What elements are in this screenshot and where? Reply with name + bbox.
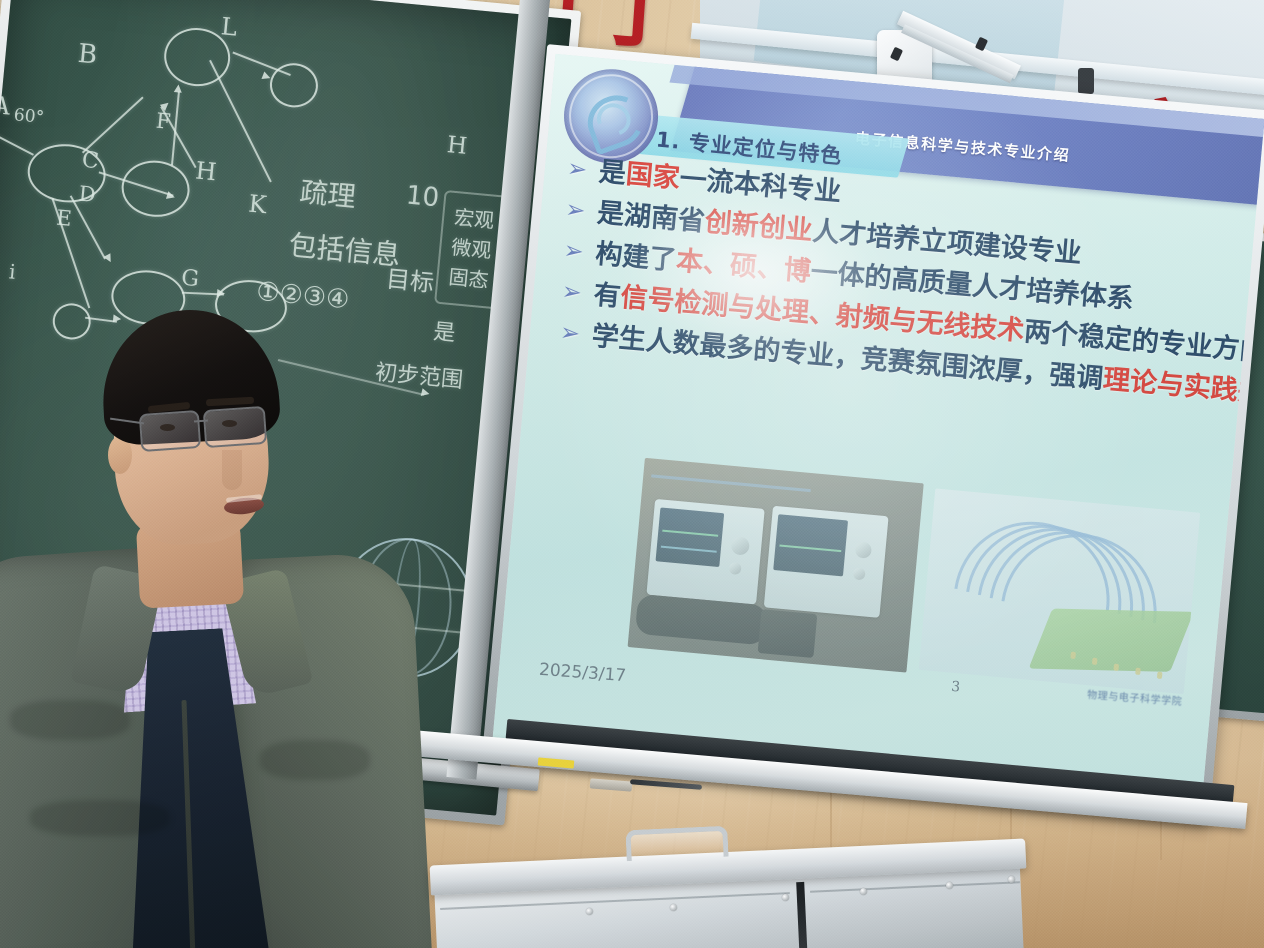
presentation-slide: 电子信息科学与技术专业介绍 1. 专业定位与特色 ➢ 是国家一流本科专业 — [491, 54, 1264, 816]
scope-display — [656, 507, 725, 567]
scope-display — [773, 514, 848, 576]
lectern-handle-icon[interactable] — [625, 826, 728, 862]
chalk-label-E: E — [55, 206, 73, 231]
chalk-note-shuli: 疏理 — [298, 170, 358, 215]
chalk-note-goal: 目标 — [385, 259, 436, 298]
chalk-label-F: F — [155, 109, 172, 134]
scope-trace — [662, 530, 718, 537]
scope-trace — [661, 546, 717, 553]
projection-screen-frame: 电子信息科学与技术专业介绍 1. 专业定位与特色 ➢ 是国家一流本科专业 — [482, 44, 1264, 826]
antenna-substrate — [1029, 609, 1194, 672]
lectern-screw — [670, 904, 677, 911]
chalk-label-K: K — [247, 190, 267, 220]
lectern-screw — [860, 888, 867, 895]
lectern-screw — [946, 882, 953, 889]
antenna-element — [1113, 664, 1119, 671]
chalk-label-B: B — [77, 39, 99, 71]
jacket-fold — [10, 700, 130, 740]
lectern-screw — [1008, 876, 1015, 883]
eye-right — [222, 420, 237, 427]
bullet-marker-icon: ➢ — [563, 238, 585, 264]
slide-date: 2025/3/17 — [538, 660, 626, 686]
scope-knob — [853, 567, 866, 580]
bullet-marker-icon: ➢ — [559, 320, 581, 346]
bullet-marker-icon: ➢ — [566, 156, 588, 182]
chalk-label-C: C — [81, 148, 100, 174]
chalk-note-ten: 10 — [405, 180, 441, 213]
jacket-fold — [30, 800, 170, 836]
chalk-arrowhead — [174, 84, 183, 93]
scope-knob — [855, 541, 872, 558]
oscilloscope-left — [646, 499, 764, 605]
antenna-element — [1157, 672, 1163, 679]
lectern-screw — [586, 908, 593, 915]
nose — [222, 450, 242, 490]
eye-left — [160, 424, 175, 431]
wall-socket — [1078, 68, 1094, 94]
scope-knob — [730, 536, 750, 556]
lectern-screw — [782, 894, 789, 901]
chalk-label-G: G — [180, 266, 200, 293]
lab-instrument-box — [758, 609, 818, 658]
chalk-label-D: D — [78, 182, 97, 207]
chalk-label-L: L — [220, 12, 239, 41]
classroom-photo-scene: 门 守 正 12:53:39 — [0, 0, 1264, 948]
chalk-label-angle: 60° — [13, 105, 45, 128]
scope-trace — [779, 544, 841, 551]
bullet-marker-icon: ➢ — [564, 197, 586, 223]
jacket-fold — [260, 740, 370, 780]
antenna-element — [1070, 652, 1076, 659]
chalk-arrowhead — [217, 289, 226, 298]
eyeglass-lens-left — [139, 410, 202, 452]
slide-photo-antenna-render — [919, 488, 1201, 694]
antenna-element — [1135, 668, 1141, 675]
chalk-label-H: H — [194, 156, 217, 186]
presenter — [0, 300, 420, 948]
chalk-note-is: 是 — [432, 314, 457, 348]
chalk-label-H2: H — [446, 132, 468, 160]
bullet-marker-icon: ➢ — [561, 279, 583, 305]
slide-page-number: 3 — [951, 679, 961, 696]
slide-photo-lab-equipment — [628, 458, 924, 673]
antenna-element — [1092, 658, 1098, 665]
lectern — [430, 838, 1030, 948]
oscilloscope-right — [764, 506, 889, 618]
eyeglass-lens-right — [203, 406, 267, 448]
scope-knob — [729, 562, 742, 575]
lab-wire — [651, 474, 811, 492]
projection-screen[interactable]: 电子信息科学与技术专业介绍 1. 专业定位与特色 ➢ 是国家一流本科专业 — [491, 54, 1264, 816]
